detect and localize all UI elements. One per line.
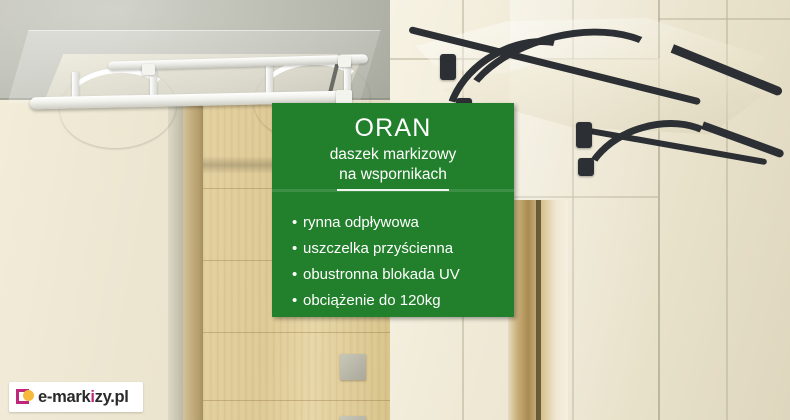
feature-list-item: •rynna odpływowa bbox=[292, 215, 514, 230]
canopy-rail-clamp bbox=[142, 64, 155, 75]
e-markizy-bracket-dot-icon bbox=[16, 388, 34, 406]
product-subtitle-line2: na wspornikach bbox=[272, 165, 514, 185]
feature-label: obciążenie do 120kg bbox=[303, 292, 441, 309]
panel-divider-line bbox=[337, 189, 449, 191]
left-door-frame bbox=[183, 104, 205, 420]
door-inlay-plate bbox=[340, 354, 366, 380]
feature-label: obustronna blokada UV bbox=[303, 266, 460, 283]
product-subtitle-line1: daszek markizowy bbox=[272, 145, 514, 165]
canopy-rail-clamp bbox=[338, 56, 351, 67]
right-door-frame-shadow bbox=[536, 200, 541, 420]
site-logo[interactable]: e-markizy.pl bbox=[9, 382, 143, 412]
bullet-icon: • bbox=[292, 293, 303, 308]
feature-label: uszczelka przyścienna bbox=[303, 240, 453, 257]
feature-list-item: •obciążenie do 120kg bbox=[292, 293, 514, 308]
door-seam bbox=[203, 332, 390, 333]
bullet-icon: • bbox=[292, 215, 303, 230]
feature-label: rynna odpływowa bbox=[303, 214, 419, 231]
canopy-wall-mount bbox=[578, 158, 594, 176]
product-info-panel: ORAN daszek markizowy na wspornikach •ry… bbox=[272, 103, 514, 317]
bullet-icon: • bbox=[292, 267, 303, 282]
feature-list: •rynna odpływowa •uszczelka przyścienna … bbox=[272, 185, 514, 308]
canopy-wall-mount bbox=[576, 122, 592, 148]
logo-text-after: zy.pl bbox=[95, 388, 129, 406]
canopy-wall-mount bbox=[440, 54, 456, 80]
bullet-icon: • bbox=[292, 241, 303, 256]
logo-text-before: e-mark bbox=[38, 388, 90, 406]
door-seam bbox=[203, 400, 390, 401]
logo-wordmark: e-markizy.pl bbox=[38, 388, 129, 407]
left-wall-reveal bbox=[168, 104, 184, 420]
door-inlay-plate bbox=[340, 416, 366, 420]
product-title: ORAN bbox=[272, 116, 514, 141]
canopy-end-cap bbox=[336, 90, 352, 104]
feature-list-item: •uszczelka przyścienna bbox=[292, 241, 514, 256]
feature-list-item: •obustronna blokada UV bbox=[292, 267, 514, 282]
canopy-support-post bbox=[266, 64, 273, 96]
dot-shape bbox=[23, 390, 34, 401]
product-banner: ORAN daszek markizowy na wspornikach •ry… bbox=[0, 0, 790, 420]
